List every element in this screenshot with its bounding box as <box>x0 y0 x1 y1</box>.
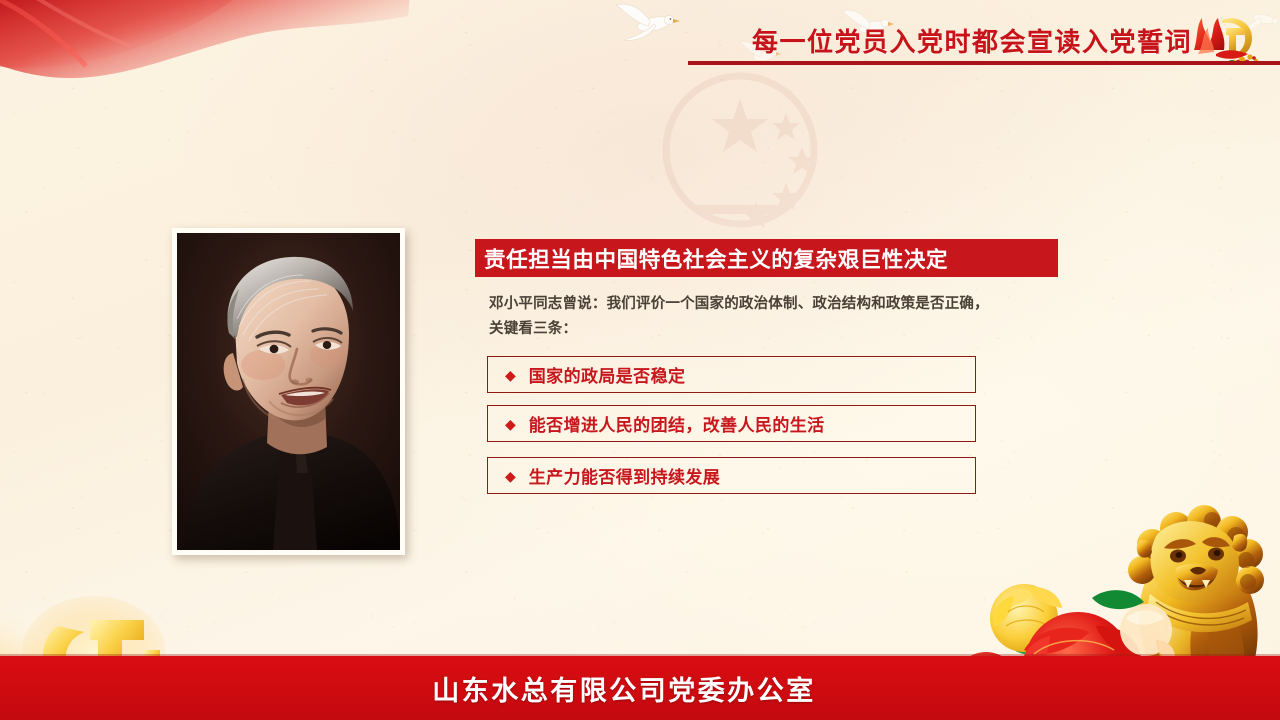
portrait-frame <box>172 228 405 555</box>
bullet-item-3[interactable]: ◆ 生产力能否得到持续发展 <box>487 457 976 494</box>
national-emblem-watermark-icon <box>590 55 890 255</box>
diamond-bullet-icon: ◆ <box>505 368 516 382</box>
bullet-item-label: 能否增进人民的团结，改善人民的生活 <box>529 411 825 436</box>
bullet-item-1[interactable]: ◆ 国家的政局是否稳定 <box>487 356 976 393</box>
footer-organization-name: 山东水总有限公司党委办公室 <box>432 669 816 708</box>
body-paragraph: 邓小平同志曾说：我们评价一个国家的政治体制、政治结构和政策是否正确，关键看三条： <box>489 292 989 342</box>
content-title: 责任担当由中国特色社会主义的复杂艰巨性决定 <box>484 243 948 274</box>
header-title: 每一位党员入党时都会宣读入党誓词 <box>752 22 1192 59</box>
bullet-item-2[interactable]: ◆ 能否增进人民的团结，改善人民的生活 <box>487 405 976 442</box>
diamond-bullet-icon: ◆ <box>505 469 516 483</box>
dove-icon <box>614 2 684 42</box>
bullet-item-label: 生产力能否得到持续发展 <box>529 463 720 488</box>
red-flag-icon <box>0 0 410 124</box>
header-divider <box>688 61 1280 65</box>
slide-header: 每一位党员入党时都会宣读入党誓词 <box>688 8 1280 68</box>
presentation-slide: 每一位党员入党时都会宣读入党誓词 <box>0 0 1280 720</box>
bullet-item-label: 国家的政局是否稳定 <box>529 362 686 387</box>
footer-bar: 山东水总有限公司党委办公室 <box>0 656 1280 720</box>
avatar <box>177 233 400 550</box>
diamond-bullet-icon: ◆ <box>505 417 516 431</box>
party-emblem-icon <box>1192 10 1260 66</box>
content-title-bar: 责任担当由中国特色社会主义的复杂艰巨性决定 <box>475 239 1058 277</box>
